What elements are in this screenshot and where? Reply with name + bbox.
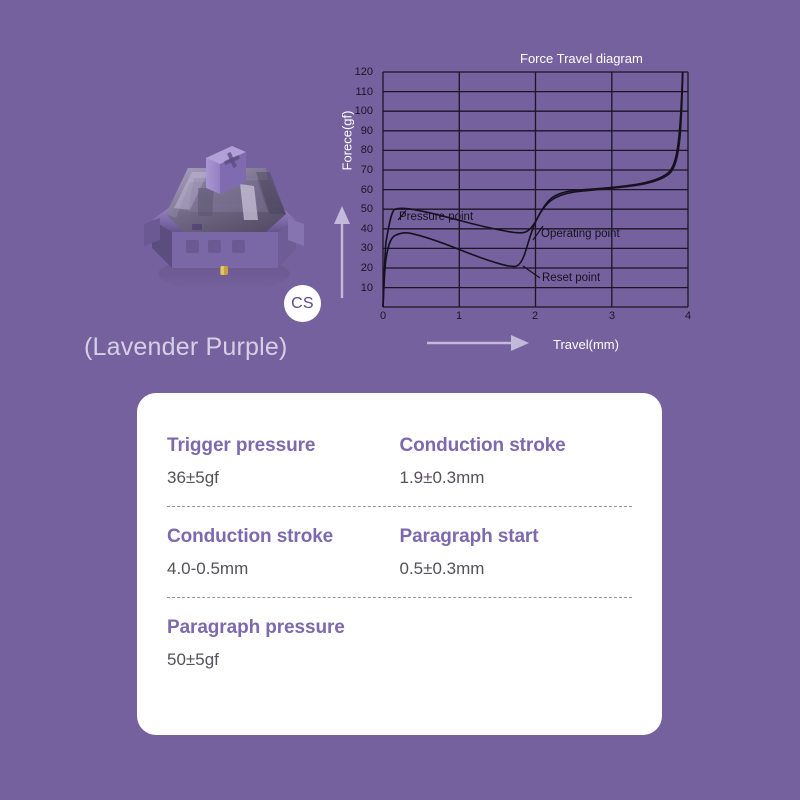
spec-cell-conduction-stroke-2: Conduction stroke 4.0-0.5mm	[167, 527, 400, 577]
spec-cell-trigger-pressure: Trigger pressure 36±5gf	[167, 436, 400, 486]
spec-cell-conduction-stroke-1: Conduction stroke 1.9±0.3mm	[400, 436, 633, 486]
spec-value: 1.9±0.3mm	[400, 469, 633, 486]
spec-label: Paragraph pressure	[167, 618, 400, 637]
spec-label: Conduction stroke	[400, 436, 633, 455]
spec-cell-paragraph-start: Paragraph start 0.5±0.3mm	[400, 527, 633, 577]
spec-label: Trigger pressure	[167, 436, 400, 455]
cs-badge: CS	[284, 285, 321, 322]
spec-value: 36±5gf	[167, 469, 400, 486]
force-travel-chart: Force Travel diagram Forece(gf) Travel(m…	[325, 40, 705, 370]
spec-value: 0.5±0.3mm	[400, 560, 633, 577]
product-spec-page: CS (Lavender Purple) Force Travel diagra…	[0, 0, 800, 800]
spec-divider-2	[167, 597, 632, 598]
switch-product-image	[128, 128, 318, 298]
cs-badge-label: CS	[291, 295, 314, 313]
spec-row: Conduction stroke 4.0-0.5mm Paragraph st…	[167, 527, 632, 577]
spec-row: Trigger pressure 36±5gf Conduction strok…	[167, 436, 632, 486]
spec-row: Paragraph pressure 50±5gf	[167, 618, 632, 668]
spec-label: Conduction stroke	[167, 527, 400, 546]
spec-cell-empty	[400, 618, 633, 668]
right-arrow-icon	[425, 333, 535, 353]
spec-label: Paragraph start	[400, 527, 633, 546]
annotation-leader-operating-point	[533, 226, 543, 240]
annotation-leader-pressure-point	[398, 211, 406, 221]
up-arrow-icon	[332, 200, 352, 300]
spec-value: 4.0-0.5mm	[167, 560, 400, 577]
color-name-label: (Lavender Purple)	[84, 333, 288, 362]
spec-value: 50±5gf	[167, 651, 400, 668]
chart-gridlines	[383, 72, 688, 307]
spec-card: Trigger pressure 36±5gf Conduction strok…	[137, 393, 662, 735]
spec-cell-paragraph-pressure: Paragraph pressure 50±5gf	[167, 618, 400, 668]
spec-divider-1	[167, 506, 632, 507]
